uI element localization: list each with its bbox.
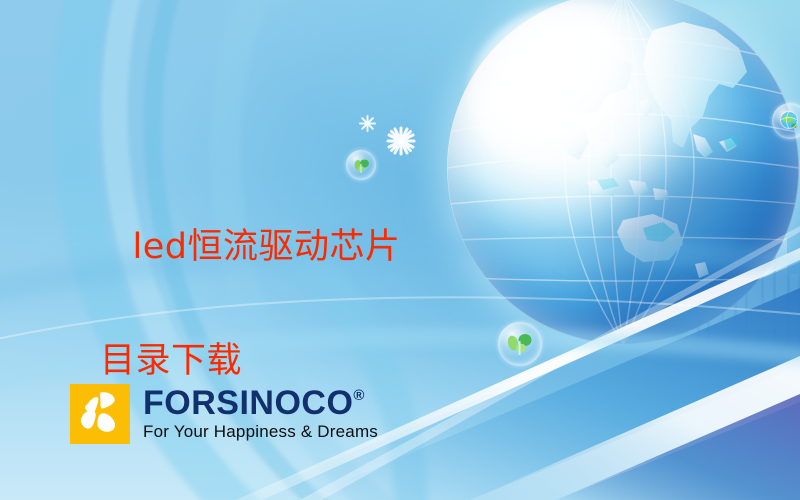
headline-line-1: led恒流驱动芯片 xyxy=(133,227,401,267)
brand-name-text: FORSINOCO xyxy=(143,386,353,420)
banner-image: led恒流驱动芯片 目录下载 FORSINOCO ® For Your Happ… xyxy=(0,0,800,500)
starburst-large xyxy=(386,126,416,161)
bubble-globe-small xyxy=(772,103,800,139)
brand-logo: FORSINOCO ® For Your Happiness & Dreams xyxy=(70,384,378,444)
headline-text: led恒流驱动芯片 目录下载 xyxy=(86,162,401,500)
headline-line-2: 目录下载 xyxy=(86,333,401,390)
brand-tagline: For Your Happiness & Dreams xyxy=(143,422,378,442)
brand-name: FORSINOCO ® xyxy=(143,386,378,420)
registered-trademark-icon: ® xyxy=(353,388,365,403)
starburst-small xyxy=(359,115,376,137)
pinwheel-flower-icon xyxy=(70,384,130,444)
bubble-sprout xyxy=(498,322,542,366)
